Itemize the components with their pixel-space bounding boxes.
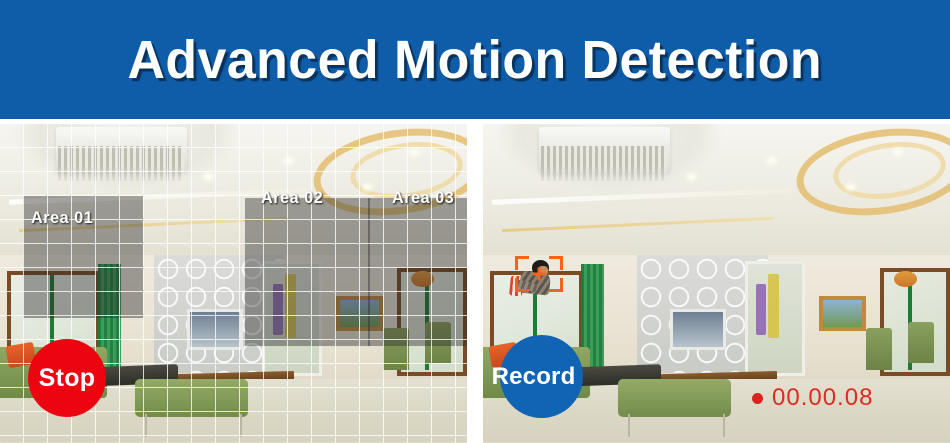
decor-plant	[756, 284, 765, 335]
stop-button-label: Stop	[39, 364, 96, 393]
detection-area-01-label: Area 01	[31, 208, 93, 228]
crosshair-corner-top-left	[515, 256, 529, 270]
downlight	[894, 150, 901, 154]
crosshair-plus-vertical	[538, 268, 541, 281]
record-button[interactable]: Record	[500, 335, 583, 418]
recording-timestamp: 00.00.08	[752, 384, 873, 412]
downlight	[847, 185, 854, 189]
crosshair-corner-bottom-right	[549, 278, 563, 292]
wall-painting	[819, 296, 866, 331]
stop-button[interactable]: Stop	[28, 339, 106, 417]
motion-detection-infographic: Advanced Motion Detection	[0, 0, 950, 443]
page-title: Advanced Motion Detection	[128, 33, 823, 87]
wall-tv	[670, 309, 726, 350]
crosshair-corner-top-right	[549, 256, 563, 270]
motion-target-crosshair-icon	[515, 256, 563, 292]
decor-plant	[768, 274, 779, 338]
dining-chair	[908, 322, 934, 363]
pendant-lamp	[894, 271, 917, 287]
dining-chair	[866, 328, 892, 369]
chandelier-crystals	[541, 146, 667, 181]
detection-area-02-label: Area 02	[261, 188, 323, 208]
detection-area-03-label: Area 03	[392, 188, 454, 208]
page-header: Advanced Motion Detection	[0, 0, 950, 119]
record-button-label: Record	[492, 363, 576, 391]
crosshair-corner-bottom-left	[515, 278, 529, 292]
record-indicator-dot-icon	[752, 393, 763, 404]
downlight	[768, 159, 775, 163]
ottoman-legs	[628, 414, 725, 436]
ottoman	[618, 379, 730, 417]
recording-timestamp-value: 00.00.08	[772, 384, 873, 412]
